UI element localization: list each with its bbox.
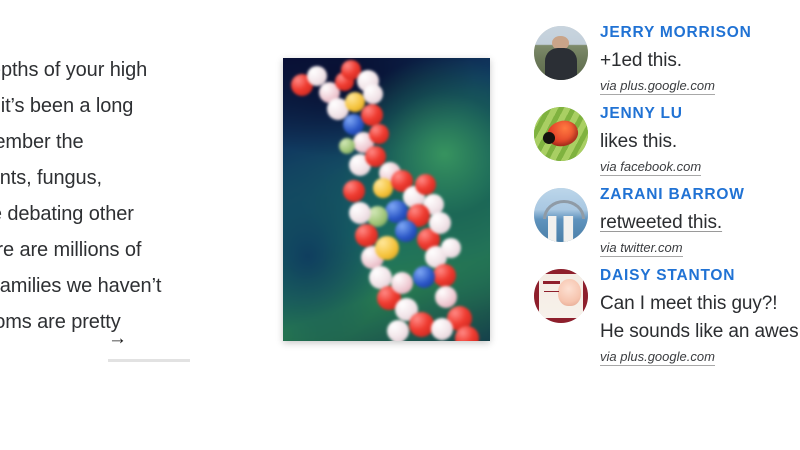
article-footer: → [108, 325, 268, 362]
ladybug-avatar-icon [534, 107, 588, 161]
avatar[interactable] [534, 269, 588, 323]
activity-source-link[interactable]: via plus.google.com [600, 348, 715, 366]
helix-bead [409, 312, 434, 337]
activity-source-link[interactable]: via plus.google.com [600, 77, 715, 95]
helix-bead [375, 236, 399, 260]
activity-action-text: likes this. [600, 128, 800, 156]
article-line-6: nd sure, there are millions of [0, 239, 141, 261]
helix-bead [361, 104, 383, 126]
harbour-avatar-icon [534, 188, 588, 242]
avatar[interactable] [534, 188, 588, 242]
article-photo [283, 58, 490, 341]
helix-bead [435, 286, 457, 308]
activity-action-text: retweeted this. [600, 209, 800, 237]
article-line-5: may still be debating other [0, 203, 134, 225]
helix-bead [413, 266, 435, 288]
helix-bead [433, 264, 456, 287]
next-arrow-icon[interactable]: → [108, 329, 128, 348]
list-item: JENNY LU likes this. via facebook.com [534, 105, 800, 176]
activity-action-text: Can I meet this guy?! He sounds like an … [600, 290, 800, 346]
activity-source-link[interactable]: via twitter.com [600, 239, 683, 257]
helix-bead [387, 320, 409, 341]
helix-bead [431, 318, 453, 340]
article-line-8: ut the kingdoms are pretty [0, 311, 121, 333]
helix-bead [349, 202, 371, 224]
article-line-4: Animals, plants, fungus, [0, 167, 102, 189]
helix-bead [369, 124, 389, 144]
list-item: JERRY MORRISON +1ed this. via plus.googl… [534, 24, 800, 95]
activity-author-name[interactable]: JERRY MORRISON [600, 24, 800, 41]
avatar[interactable] [534, 26, 588, 80]
activity-source-link[interactable]: via facebook.com [600, 158, 701, 176]
helix-bead [343, 180, 365, 202]
helix-bead [441, 238, 461, 258]
activity-action-text: +1ed this. [600, 47, 800, 75]
helix-bead [415, 174, 436, 195]
activity-author-name[interactable]: ZARANI BARROW [600, 186, 800, 203]
footer-divider [108, 359, 190, 362]
photographer-avatar-icon [534, 26, 588, 80]
pager-row: → [108, 325, 268, 351]
activity-author-name[interactable]: DAISY STANTON [600, 267, 800, 284]
article-line-7: s and even families we haven’t [0, 275, 161, 297]
list-item: ZARANI BARROW retweeted this. via twitte… [534, 186, 800, 257]
activity-author-name[interactable]: JENNY LU [600, 105, 800, 122]
helix-bead [373, 178, 393, 198]
article-line-2: ass. I know, it’s been a long [0, 95, 133, 117]
helix-bead [339, 138, 355, 154]
helix-bead [395, 220, 417, 242]
page-root: he murky depths of your high ass. I know… [0, 0, 800, 450]
helix-bead [429, 212, 451, 234]
article-line-1: he murky depths of your high [0, 59, 147, 81]
article-line-3: th me. Remember the [0, 131, 84, 153]
list-item: DAISY STANTON Can I meet this guy?! He s… [534, 267, 800, 366]
activity-list: JERRY MORRISON +1ed this. via plus.googl… [534, 14, 800, 375]
avatar[interactable] [534, 107, 588, 161]
helix-bead [363, 84, 383, 104]
helix-bead [391, 272, 413, 294]
coffee-poster-avatar-icon [534, 269, 588, 323]
